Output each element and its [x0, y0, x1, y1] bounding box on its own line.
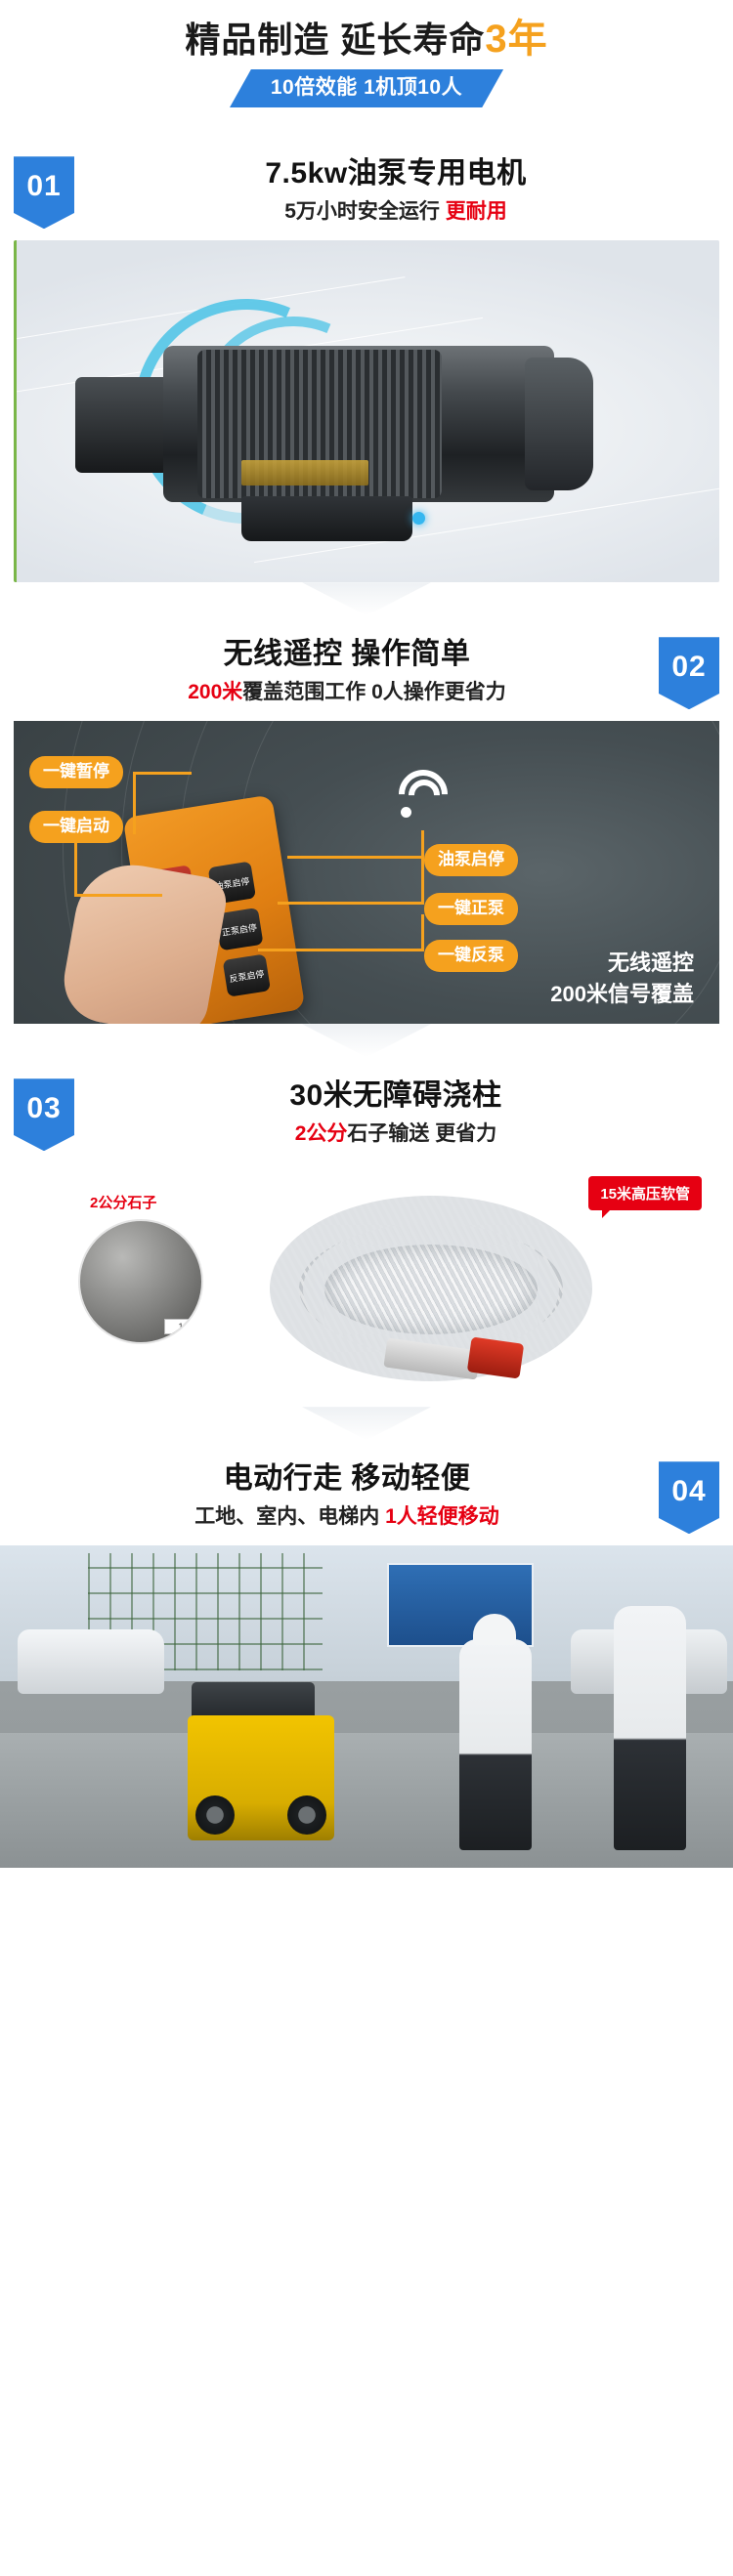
callout-leader-line [133, 772, 192, 834]
section-02-text: 无线遥控 操作简单 200米覆盖范围工作 0人操作更省力 [0, 627, 733, 707]
callout-pause: 一键暂停 [29, 756, 123, 788]
section-01-sub-highlight: 更耐用 [446, 200, 507, 223]
section-02-title: 无线遥控 操作简单 [0, 635, 694, 675]
motor-nameplate [241, 460, 368, 486]
section-02-photo-remote: 停 油泵启停 正泵启停 备用 反泵启停 一键暂停 一键启动 油泵启停 一键正泵 … [14, 721, 719, 1024]
divider-01-02 [0, 582, 733, 627]
section-04-sub-highlight: 1人轻便移动 [385, 1505, 499, 1528]
machine-wheel [287, 1795, 326, 1835]
chevron-down-icon [302, 1024, 431, 1057]
ruler-scale: 1 2 [164, 1319, 203, 1334]
section-03-title: 30米无障碍浇柱 [59, 1077, 733, 1117]
motor-end-cap [525, 358, 593, 490]
section-03-header: 03 30米无障碍浇柱 2公分石子输送 更省力 [0, 1069, 733, 1162]
wifi-signal-icon [397, 768, 455, 823]
section-04-header: 04 电动行走 移动轻便 工地、室内、电梯内 1人轻便移动 [0, 1452, 733, 1545]
parked-van-left [18, 1629, 164, 1694]
section-03-sub-highlight: 2公分 [295, 1122, 348, 1145]
section-02-header: 02 无线遥控 操作简单 200米覆盖范围工作 0人操作更省力 [0, 627, 733, 721]
page-title: 精品制造 延长寿命3年 [0, 18, 733, 61]
section-02-caption: 无线遥控 200米信号覆盖 [550, 948, 694, 1010]
page-title-main: 精品制造 延长寿命 [185, 20, 485, 60]
section-01-subtitle: 5万小时安全运行 更耐用 [59, 196, 733, 228]
hose-coupler [467, 1337, 524, 1379]
section-04-title: 电动行走 移动轻便 [0, 1459, 694, 1499]
divider-02-03 [0, 1024, 733, 1069]
callout-leader-line [258, 914, 424, 951]
high-pressure-hose-coil-inner [303, 1223, 559, 1356]
stone-size-label: 2公分石子 [90, 1192, 156, 1212]
section-04-sub-plain: 工地、室内、电梯内 [194, 1505, 385, 1528]
section-01-text: 7.5kw油泵专用电机 5万小时安全运行 更耐用 [0, 147, 733, 227]
callout-reverse-pump: 一键反泵 [424, 940, 518, 972]
callout-forward-pump: 一键正泵 [424, 893, 518, 925]
worker-person-center [459, 1639, 532, 1850]
section-02-sub-plain: 覆盖范围工作 0人操作更省力 [242, 681, 506, 703]
divider-03-04 [0, 1407, 733, 1452]
section-03-subtitle: 2公分石子输送 更省力 [59, 1119, 733, 1150]
indicator-light-icon [412, 512, 425, 525]
section-02-subtitle: 200米覆盖范围工作 0人操作更省力 [0, 677, 694, 708]
caption-line-2: 200米信号覆盖 [550, 979, 694, 1010]
concrete-pump-machine [188, 1715, 334, 1840]
worker-person-right [614, 1606, 686, 1850]
section-04-text: 电动行走 移动轻便 工地、室内、电梯内 1人轻便移动 [0, 1452, 733, 1532]
chevron-down-icon [302, 582, 431, 615]
callout-pump-toggle: 油泵启停 [424, 844, 518, 876]
header-ribbon: 10倍效能 1机顶10人 [230, 69, 503, 107]
section-04-photo-site [0, 1545, 733, 1868]
machine-wheel [195, 1795, 235, 1835]
section-01-sub-plain: 5万小时安全运行 [284, 200, 446, 223]
page-title-accent: 3年 [485, 18, 547, 61]
hose-length-tag: 15米高压软管 [588, 1176, 702, 1210]
gravel-sample-photo: 1 2 [78, 1219, 203, 1344]
spacer-after-header [0, 107, 733, 147]
section-01-header: 01 7.5kw油泵专用电机 5万小时安全运行 更耐用 [0, 147, 733, 240]
caption-line-1: 无线遥控 [550, 948, 694, 979]
chevron-down-icon [302, 1407, 431, 1440]
header-ribbon-wrap: 10倍效能 1机顶10人 [0, 69, 733, 107]
remote-key-reverse-pump[interactable]: 反泵启停 [223, 954, 271, 997]
section-01-photo-motor [14, 240, 719, 582]
section-04-subtitle: 工地、室内、电梯内 1人轻便移动 [0, 1501, 694, 1533]
section-03-text: 30米无障碍浇柱 2公分石子输送 更省力 [0, 1069, 733, 1149]
section-02-sub-highlight: 200米 [188, 681, 242, 703]
motor-base-foot [241, 496, 412, 541]
product-detail-page: 精品制造 延长寿命3年 10倍效能 1机顶10人 01 7.5kw油泵专用电机 … [0, 0, 733, 1868]
section-03-photo-hose: 2公分石子 1 2 15米高压软管 [14, 1162, 719, 1407]
callout-leader-line [74, 842, 162, 897]
section-03-sub-plain: 石子输送 更省力 [347, 1122, 496, 1145]
ruler-mark-1: 1 [178, 1322, 183, 1331]
page-header: 精品制造 延长寿命3年 10倍效能 1机顶10人 [0, 0, 733, 107]
callout-leader-line [278, 830, 424, 905]
callout-start: 一键启动 [29, 811, 123, 843]
section-01-title: 7.5kw油泵专用电机 [59, 154, 733, 194]
